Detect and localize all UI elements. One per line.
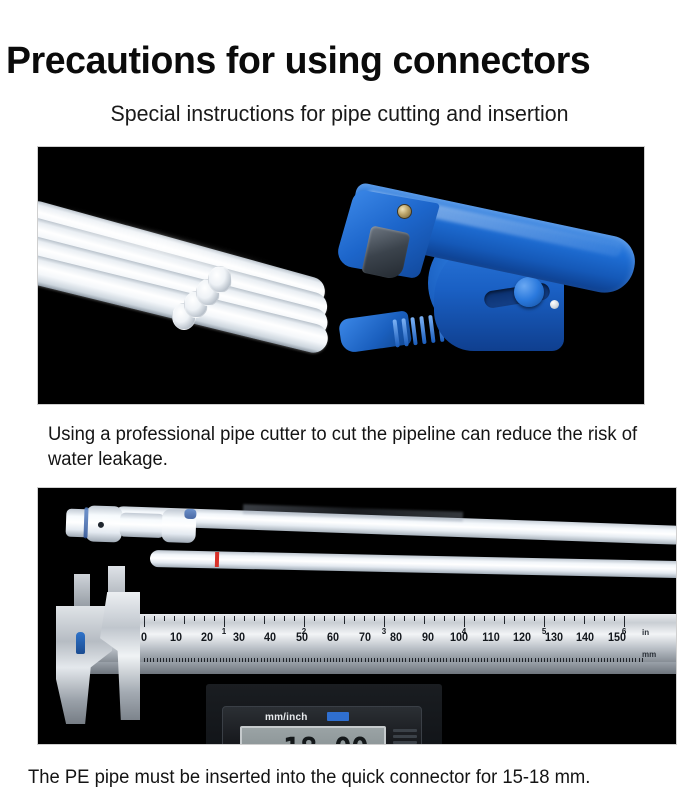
caliper-scale-number: 150 — [607, 630, 625, 644]
caliper-measurement-value: 18.00 — [283, 730, 368, 745]
caliper-metric-numbers: 0102030405060708090100110120130140150 — [86, 630, 677, 652]
caliper-scale-beam: 123456 010203040506070809010011012013014… — [86, 614, 677, 662]
caliper-blue-emblem — [76, 632, 85, 654]
cutting-caption: Using a professional pipe cutter to cut … — [48, 422, 640, 472]
caliper-lcd-screen: 18.00 mm — [240, 726, 386, 745]
display-vent-grille — [391, 727, 419, 745]
display-mode-indicator — [327, 712, 349, 721]
caliper-scale-number: 20 — [201, 630, 213, 644]
caliper-scale-number: 110 — [482, 630, 499, 644]
digital-vernier-caliper: 123456 010203040506070809010011012013014… — [56, 588, 677, 738]
caliper-imperial-ticks: 123456 — [86, 616, 677, 627]
caliper-display-module: mm/inch 18.00 mm OFF ON ZERO — [222, 706, 422, 745]
cutter-pin — [550, 300, 559, 309]
caliper-measurement-unit: mm — [365, 742, 381, 745]
connector-segment — [120, 513, 165, 539]
blue-pipe-cutter-tool — [338, 165, 643, 393]
caliper-scale-number: 10 — [169, 630, 181, 644]
quick-connector-with-pipe — [65, 502, 202, 547]
caliper-scale-number: 50 — [295, 630, 307, 644]
caliper-scale-number: 60 — [327, 630, 339, 644]
insertion-caption: The PE pipe must be inserted into the qu… — [28, 765, 654, 790]
caliper-scale-number: 40 — [264, 630, 276, 644]
pipe-cutter-photo — [37, 146, 645, 405]
cutter-thumb-knob — [514, 277, 544, 307]
caliper-measurement-photo: 123456 010203040506070809010011012013014… — [37, 487, 677, 745]
caliper-scale-number: 80 — [390, 630, 402, 644]
caliper-scale-number: 100 — [450, 630, 468, 644]
white-pe-pipe-coil — [37, 235, 332, 385]
caliper-beam-underside — [86, 662, 677, 674]
page-subtitle: Special instructions for pipe cutting an… — [10, 99, 669, 129]
caliper-imperial-unit-label: in — [642, 628, 649, 637]
caliper-metric-unit-label: mm — [642, 650, 656, 659]
infographic-page: Precautions for using connectors Special… — [0, 0, 679, 797]
page-title: Precautions for using connectors — [6, 38, 663, 84]
red-insertion-mark — [215, 552, 219, 567]
caliper-scale-number: 140 — [576, 630, 594, 644]
pipe-cut-end — [208, 266, 232, 293]
caliper-scale-number: 30 — [232, 630, 244, 644]
pe-pipe-with-insertion-mark — [150, 550, 677, 578]
caliper-scale-number: 90 — [421, 630, 433, 644]
caliper-scale-number: 120 — [513, 630, 531, 644]
caliper-scale-number: 0 — [141, 630, 147, 644]
caliper-scale-number: 70 — [358, 630, 370, 644]
caliper-scale-number: 130 — [544, 630, 562, 644]
connector-collet-ring — [184, 509, 196, 519]
display-mode-label: mm/inch — [265, 712, 308, 723]
cutter-blade-screw — [397, 204, 412, 219]
